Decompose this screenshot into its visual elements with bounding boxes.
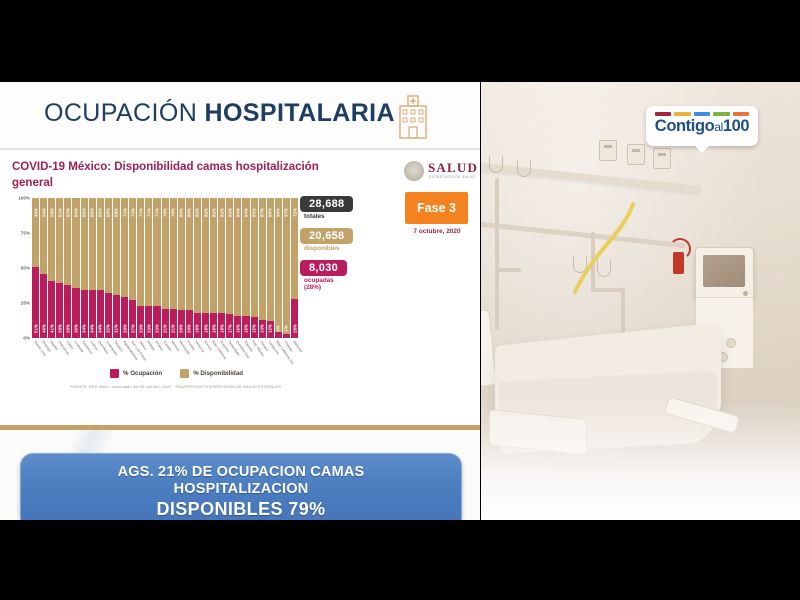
bar-label-disponibilidad: 80%	[187, 208, 192, 217]
bar-column: 71%29%	[121, 198, 128, 338]
bar-segment-disponibilidad: 82%	[210, 198, 217, 313]
bar-segment-disponibilidad: 82%	[202, 198, 209, 313]
bar-label-disponibilidad: 66%	[98, 208, 103, 217]
bar-segment-disponibilidad: 77%	[145, 198, 152, 306]
bar-segment-ocupacion: 20%	[186, 310, 193, 338]
bar-segment-ocupacion: 15%	[251, 317, 258, 338]
bar-segment-ocupacion: 12%	[267, 321, 274, 338]
chart-card: COVID-19 México: Disponibilidad camas ho…	[0, 150, 480, 430]
bar-segment-ocupacion: 34%	[89, 290, 96, 338]
x-axis-tick: Yucatán	[162, 339, 169, 365]
bar-column: 54%46%	[40, 198, 47, 338]
x-axis-tick: Quintana Roo	[234, 339, 241, 365]
logo-bar	[713, 112, 729, 116]
bar-label-ocupacion: 4%	[276, 325, 281, 331]
bar-label-ocupacion: 38%	[65, 324, 70, 333]
callout-avail: 20,658disponibles	[300, 226, 400, 252]
bar-segment-disponibilidad: 77%	[137, 198, 144, 306]
bar-column: 64%36%	[72, 198, 79, 338]
bar-column: 96%4%	[275, 198, 282, 338]
bar-label-disponibilidad: 62%	[65, 208, 70, 217]
x-axis-tick: Michoacán	[178, 339, 185, 365]
bar-label-disponibilidad: 59%	[49, 208, 54, 217]
bar-column: 77%23%	[153, 198, 160, 338]
banner-line-1: AGS. 21% DE OCUPACION CAMAS	[118, 464, 365, 480]
bar-label-disponibilidad: 88%	[268, 208, 273, 217]
bar-label-disponibilidad: 82%	[219, 208, 224, 217]
page-title-light: OCUPACIÓN	[44, 99, 205, 127]
x-axis-tick: San Luis Potosí	[129, 339, 136, 365]
monitor-screen	[703, 255, 745, 287]
chart-title: COVID-19 México: Disponibilidad camas ho…	[12, 160, 352, 191]
bar-label-disponibilidad: 87%	[260, 208, 265, 217]
bar-segment-ocupacion: 46%	[40, 274, 47, 338]
lower-third-banner: AGS. 21% DE OCUPACION CAMAS HOSPITALIZAC…	[20, 453, 462, 520]
bar-segment-disponibilidad: 82%	[194, 198, 201, 313]
bar-column: 66%34%	[81, 198, 88, 338]
slide-header: OCUPACIÓN HOSPITALARIA	[0, 82, 480, 148]
legend-item: % Ocupación	[110, 369, 162, 378]
x-axis-tick: Chihuahua	[56, 339, 63, 365]
wall-pipe	[495, 178, 499, 270]
x-axis-tick: Morelos	[170, 339, 177, 365]
hospital-room-photo: Contigoal100	[481, 82, 800, 520]
x-axis-tick: Sonora	[202, 339, 209, 365]
bar-label-disponibilidad: 97%	[284, 208, 289, 217]
callout-value: 8,030	[300, 260, 347, 276]
bar-segment-disponibilidad: 77%	[153, 198, 160, 306]
banner-line-3: DISPONIBLES 79%	[156, 499, 325, 520]
bar-label-disponibilidad: 77%	[154, 208, 159, 217]
patient-monitor	[695, 247, 754, 301]
x-axis-tick: Durango	[40, 339, 47, 365]
bar-segment-ocupacion: 23%	[137, 306, 144, 338]
bar-label-disponibilidad: 84%	[235, 208, 240, 217]
y-axis-tick: 100%	[18, 196, 30, 201]
bar-label-ocupacion: 36%	[74, 324, 79, 333]
bar-segment-disponibilidad: 84%	[234, 198, 241, 316]
callout-caption: disponibles	[300, 245, 400, 252]
x-axis-tick: Tlaxcala	[242, 339, 249, 365]
bar-segment-disponibilidad: 71%	[121, 198, 128, 297]
x-axis-tick: Veracruz	[194, 339, 201, 365]
bar-segment-ocupacion: 21%	[162, 309, 169, 338]
bar-column: 61%39%	[56, 198, 63, 338]
iv-hook-icon	[517, 160, 531, 177]
bar-label-disponibilidad: 66%	[90, 208, 95, 217]
x-axis-tick: Hidalgo	[145, 339, 152, 365]
bar-segment-ocupacion: 13%	[259, 320, 266, 338]
bar-segment-ocupacion: 17%	[226, 314, 233, 338]
bar-label-disponibilidad: 61%	[57, 208, 62, 217]
x-axis-tick: Baja California Sur	[275, 339, 282, 365]
bar-segment-ocupacion: 3%	[283, 334, 290, 338]
bar-segment-disponibilidad: 59%	[48, 198, 55, 281]
bar-segment-disponibilidad: 88%	[267, 198, 274, 321]
bar-segment-disponibilidad: 97%	[283, 198, 290, 334]
bars-container: 49%51%54%46%59%41%61%39%62%38%64%36%66%3…	[32, 198, 298, 338]
emergency-call-button	[673, 252, 684, 274]
bar-segment-disponibilidad: 80%	[186, 198, 193, 310]
callout-caption: totales	[300, 213, 400, 220]
bar-label-ocupacion: 46%	[41, 324, 46, 333]
bar-column: 77%23%	[137, 198, 144, 338]
bar-label-disponibilidad: 77%	[146, 208, 151, 217]
y-axis-tick: 25%	[21, 301, 30, 306]
bar-segment-disponibilidad: 83%	[226, 198, 233, 314]
bar-label-disponibilidad: 84%	[243, 208, 248, 217]
bar-label-disponibilidad: 69%	[114, 208, 119, 217]
bar-column: 83%17%	[226, 198, 233, 338]
page-title-bold: HOSPITALARIA	[205, 99, 395, 127]
bar-segment-disponibilidad: 82%	[218, 198, 225, 313]
logo-color-bars	[655, 112, 749, 116]
x-axis-tick: Aguascalientes	[121, 339, 128, 365]
x-axis-tick: Jalisco	[137, 339, 144, 365]
bar-column: 62%38%	[64, 198, 71, 338]
bar-column: 84%16%	[242, 198, 249, 338]
bar-segment-disponibilidad: 79%	[162, 198, 169, 309]
wall-outlet	[627, 144, 645, 165]
bar-column: 59%41%	[48, 198, 55, 338]
bar-label-ocupacion: 13%	[260, 324, 265, 333]
broadcast-graphic-panel: OCUPACIÓN HOSPITALARIA COVID-19 México: …	[0, 82, 480, 520]
chart-plot: 0%25%50%75%100% 49%51%54%46%59%41%61%39%…	[8, 198, 298, 353]
bar-segment-ocupacion: 16%	[234, 316, 241, 338]
bar-column: 68%32%	[105, 198, 112, 338]
bar-segment-ocupacion: 31%	[113, 295, 120, 338]
bar-column: 79%21%	[170, 198, 177, 338]
salud-wordmark: SALUD	[428, 160, 478, 176]
bar-label-ocupacion: 23%	[138, 324, 143, 333]
bar-label-disponibilidad: 82%	[195, 208, 200, 217]
fase-date: 7 octubre, 2020	[403, 228, 471, 235]
bar-label-disponibilidad: 66%	[82, 208, 87, 217]
bar-segment-disponibilidad: 84%	[242, 198, 249, 316]
x-axis-tick: Tamaulipas	[226, 339, 233, 365]
bar-column: 80%20%	[178, 198, 185, 338]
bar-label-ocupacion: 28%	[292, 324, 297, 333]
bar-label-ocupacion: 34%	[82, 324, 87, 333]
x-axis-tick: Nacional	[291, 339, 298, 365]
bar-segment-disponibilidad: 66%	[89, 198, 96, 290]
bar-label-ocupacion: 27%	[130, 324, 135, 333]
x-axis-tick: Colima	[89, 339, 96, 365]
bar-label-disponibilidad: 49%	[33, 208, 38, 217]
bar-column: 80%20%	[186, 198, 193, 338]
bar-label-ocupacion: 16%	[235, 324, 240, 333]
bar-label-ocupacion: 18%	[219, 324, 224, 333]
x-axis-tick: Sinaloa	[153, 339, 160, 365]
bar-label-ocupacion: 21%	[171, 324, 176, 333]
bar-label-disponibilidad: 64%	[74, 208, 79, 217]
legend-label: % Ocupación	[123, 370, 162, 377]
bar-segment-ocupacion: 18%	[194, 313, 201, 338]
bar-segment-ocupacion: 36%	[72, 288, 79, 338]
contigo-al-100-logo: Contigoal100	[646, 106, 758, 146]
bar-column: 82%18%	[194, 198, 201, 338]
bar-segment-disponibilidad: 64%	[72, 198, 79, 288]
bar-segment-ocupacion: 23%	[145, 306, 152, 338]
bar-label-ocupacion: 23%	[146, 324, 151, 333]
x-axis-tick: Oaxaca	[259, 339, 266, 365]
bar-label-ocupacion: 15%	[252, 324, 257, 333]
bar-label-ocupacion: 20%	[179, 324, 184, 333]
bar-column: 87%13%	[259, 198, 266, 338]
bar-label-ocupacion: 34%	[90, 324, 95, 333]
x-axis-tick: Querétaro	[97, 339, 104, 365]
bar-segment-ocupacion: 39%	[56, 283, 63, 338]
bar-segment-disponibilidad: 80%	[178, 198, 185, 310]
bar-label-ocupacion: 34%	[98, 324, 103, 333]
bar-segment-ocupacion: 29%	[121, 297, 128, 338]
callout-value: 20,658	[300, 228, 353, 244]
bar-segment-disponibilidad: 66%	[97, 198, 104, 290]
photo-fade-overlay	[481, 400, 800, 520]
bar-label-disponibilidad: 82%	[203, 208, 208, 217]
bar-column: 79%21%	[162, 198, 169, 338]
bar-label-ocupacion: 12%	[268, 324, 273, 333]
x-axis-tick: Chiapas	[283, 339, 290, 365]
bar-label-disponibilidad: 68%	[106, 208, 111, 217]
salud-logo: SALUD SECRETARÍA DE SALUD	[404, 159, 476, 185]
callout-total: 28,688totales	[300, 194, 400, 220]
bar-segment-disponibilidad: 62%	[64, 198, 71, 285]
bar-column: 66%34%	[89, 198, 96, 338]
bar-segment-ocupacion: 20%	[178, 310, 185, 338]
bar-segment-disponibilidad: 69%	[113, 198, 120, 295]
monitor-knob-icon	[743, 291, 748, 296]
callout-value: 28,688	[300, 196, 353, 212]
bar-column: 49%51%	[32, 198, 39, 338]
bar-segment-ocupacion: 34%	[81, 290, 88, 338]
y-axis-tick: 0%	[23, 336, 30, 341]
x-axis-tick: Guerrero	[218, 339, 225, 365]
bar-label-ocupacion: 41%	[49, 324, 54, 333]
bar-label-disponibilidad: 83%	[227, 208, 232, 217]
bar-label-ocupacion: 32%	[106, 324, 111, 333]
salud-subtitle: SECRETARÍA DE SALUD	[429, 175, 475, 179]
logo-pointer	[694, 145, 710, 153]
logo-bar	[674, 112, 690, 116]
bar-segment-disponibilidad: 85%	[251, 198, 258, 317]
logo-wordmark: Contigoal100	[654, 117, 750, 136]
callout-group: 28,688totales20,658disponibles8,030ocupa…	[300, 194, 400, 297]
bar-segment-disponibilidad: 54%	[40, 198, 47, 274]
bar-label-ocupacion: 18%	[211, 324, 216, 333]
bar-segment-ocupacion: 18%	[218, 313, 225, 338]
fase-label: Fase 3	[405, 192, 468, 224]
bar-segment-ocupacion: 23%	[153, 306, 160, 338]
bar-segment-disponibilidad: 87%	[259, 198, 266, 320]
bar-label-ocupacion: 21%	[163, 324, 168, 333]
callout-occup: 8,030ocupadas(28%)	[300, 258, 400, 291]
x-axis-tick: Puebla	[186, 339, 193, 365]
bar-segment-disponibilidad: 68%	[105, 198, 112, 293]
bar-segment-ocupacion: 21%	[170, 309, 177, 338]
bar-column: 85%15%	[251, 198, 258, 338]
bar-label-ocupacion: 23%	[154, 324, 159, 333]
bar-label-ocupacion: 17%	[227, 324, 232, 333]
page-title: OCUPACIÓN HOSPITALARIA	[44, 99, 395, 128]
legend-label: % Disponibilidad	[193, 370, 243, 377]
bar-segment-disponibilidad: 72%	[291, 198, 298, 299]
bar-label-ocupacion: 3%	[284, 325, 289, 331]
chart-legend: % Ocupación% Disponibilidad	[110, 369, 243, 378]
y-axis-tick: 75%	[21, 231, 30, 236]
logo-word-contigo: Contigo	[655, 117, 715, 135]
bar-column: 72%28%	[291, 198, 298, 338]
bar-label-ocupacion: 16%	[243, 324, 248, 333]
bar-segment-ocupacion: 32%	[105, 293, 112, 338]
x-axis-tick: Baja California	[210, 339, 217, 365]
legend-swatch	[180, 369, 189, 378]
y-axis-tick: 50%	[21, 266, 30, 271]
bar-label-disponibilidad: 72%	[292, 208, 297, 217]
bar-segment-ocupacion: 4%	[275, 332, 282, 338]
bar-label-ocupacion: 18%	[203, 324, 208, 333]
bar-label-disponibilidad: 54%	[41, 208, 46, 217]
bar-label-ocupacion: 20%	[187, 324, 192, 333]
bar-segment-ocupacion: 27%	[129, 300, 136, 338]
bar-segment-ocupacion: 16%	[242, 316, 249, 338]
bar-label-disponibilidad: 80%	[179, 208, 184, 217]
bar-segment-disponibilidad: 61%	[56, 198, 63, 283]
banner-line-2: HOSPITALIZACION	[174, 481, 309, 497]
bar-column: 84%16%	[234, 198, 241, 338]
callout-caption: ocupadas(28%)	[300, 277, 400, 291]
x-axis-tick: Zacatecas	[81, 339, 88, 365]
bar-segment-disponibilidad: 73%	[129, 198, 136, 300]
bar-column: 73%27%	[129, 198, 136, 338]
iv-hook-icon	[489, 156, 503, 173]
bar-segment-ocupacion: 18%	[210, 313, 217, 338]
bar-column: 69%31%	[113, 198, 120, 338]
bar-column: 77%23%	[145, 198, 152, 338]
bar-label-ocupacion: 29%	[122, 324, 127, 333]
bar-segment-ocupacion: 28%	[291, 299, 298, 338]
bar-label-ocupacion: 39%	[57, 324, 62, 333]
bar-column: 88%12%	[267, 198, 274, 338]
fase-badge: Fase 3	[405, 192, 468, 224]
bar-label-disponibilidad: 79%	[171, 208, 176, 217]
bar-column: 97%3%	[283, 198, 290, 338]
bar-column: 82%18%	[202, 198, 209, 338]
x-axis-tick: Tabasco	[113, 339, 120, 365]
logo-word-100: 100	[723, 117, 749, 135]
logo-bar	[655, 112, 671, 116]
x-axis-tick: CDMX	[64, 339, 71, 365]
mexican-seal-icon	[404, 161, 424, 181]
bar-label-disponibilidad: 85%	[252, 208, 257, 217]
wall-outlet	[653, 148, 671, 169]
source-note: FUENTE: RED IRAG, acumulado del 06 octub…	[70, 384, 410, 389]
card-bottom-rule	[0, 425, 480, 430]
bar-label-ocupacion: 18%	[195, 324, 200, 333]
bar-label-disponibilidad: 77%	[138, 208, 143, 217]
x-axis-tick: Coahuila	[72, 339, 79, 365]
bar-label-disponibilidad: 71%	[122, 208, 127, 217]
bar-column: 82%18%	[210, 198, 217, 338]
bar-segment-disponibilidad: 96%	[275, 198, 282, 332]
bar-segment-disponibilidad: 66%	[81, 198, 88, 290]
y-axis: 0%25%50%75%100%	[8, 198, 32, 338]
bar-segment-ocupacion: 34%	[97, 290, 104, 338]
logo-word-al: al	[714, 120, 723, 134]
bar-label-disponibilidad: 79%	[163, 208, 168, 217]
bar-label-disponibilidad: 82%	[211, 208, 216, 217]
x-axis-tick: Nuevo León	[32, 339, 39, 365]
wall-outlet	[599, 140, 617, 161]
legend-swatch	[110, 369, 119, 378]
bar-label-disponibilidad: 96%	[276, 208, 281, 217]
hospital-building-icon	[390, 92, 436, 140]
logo-bar	[733, 112, 749, 116]
logo-bar	[694, 112, 710, 116]
x-axis-tick: Campeche	[267, 339, 274, 365]
bar-segment-ocupacion: 38%	[64, 285, 71, 338]
x-axis-labels: Nuevo LeónDurangoNayaritChihuahuaCDMXCoa…	[32, 339, 298, 365]
bar-label-ocupacion: 51%	[33, 324, 38, 333]
screenshot-stage: OCUPACIÓN HOSPITALARIA COVID-19 México: …	[0, 0, 800, 600]
x-axis-tick: Nayarit	[48, 339, 55, 365]
bar-segment-disponibilidad: 49%	[32, 198, 39, 267]
bar-segment-ocupacion: 51%	[32, 267, 39, 338]
legend-item: % Disponibilidad	[180, 369, 243, 378]
bar-segment-ocupacion: 18%	[202, 313, 209, 338]
x-axis-tick: Guanajuato	[105, 339, 112, 365]
bar-segment-disponibilidad: 79%	[170, 198, 177, 309]
bar-label-ocupacion: 31%	[114, 324, 119, 333]
bar-column: 82%18%	[218, 198, 225, 338]
x-axis-tick: Edo. México	[251, 339, 258, 365]
bar-segment-ocupacion: 41%	[48, 281, 55, 338]
bar-column: 66%34%	[97, 198, 104, 338]
oxygen-tube	[553, 200, 643, 308]
bar-label-disponibilidad: 73%	[130, 208, 135, 217]
